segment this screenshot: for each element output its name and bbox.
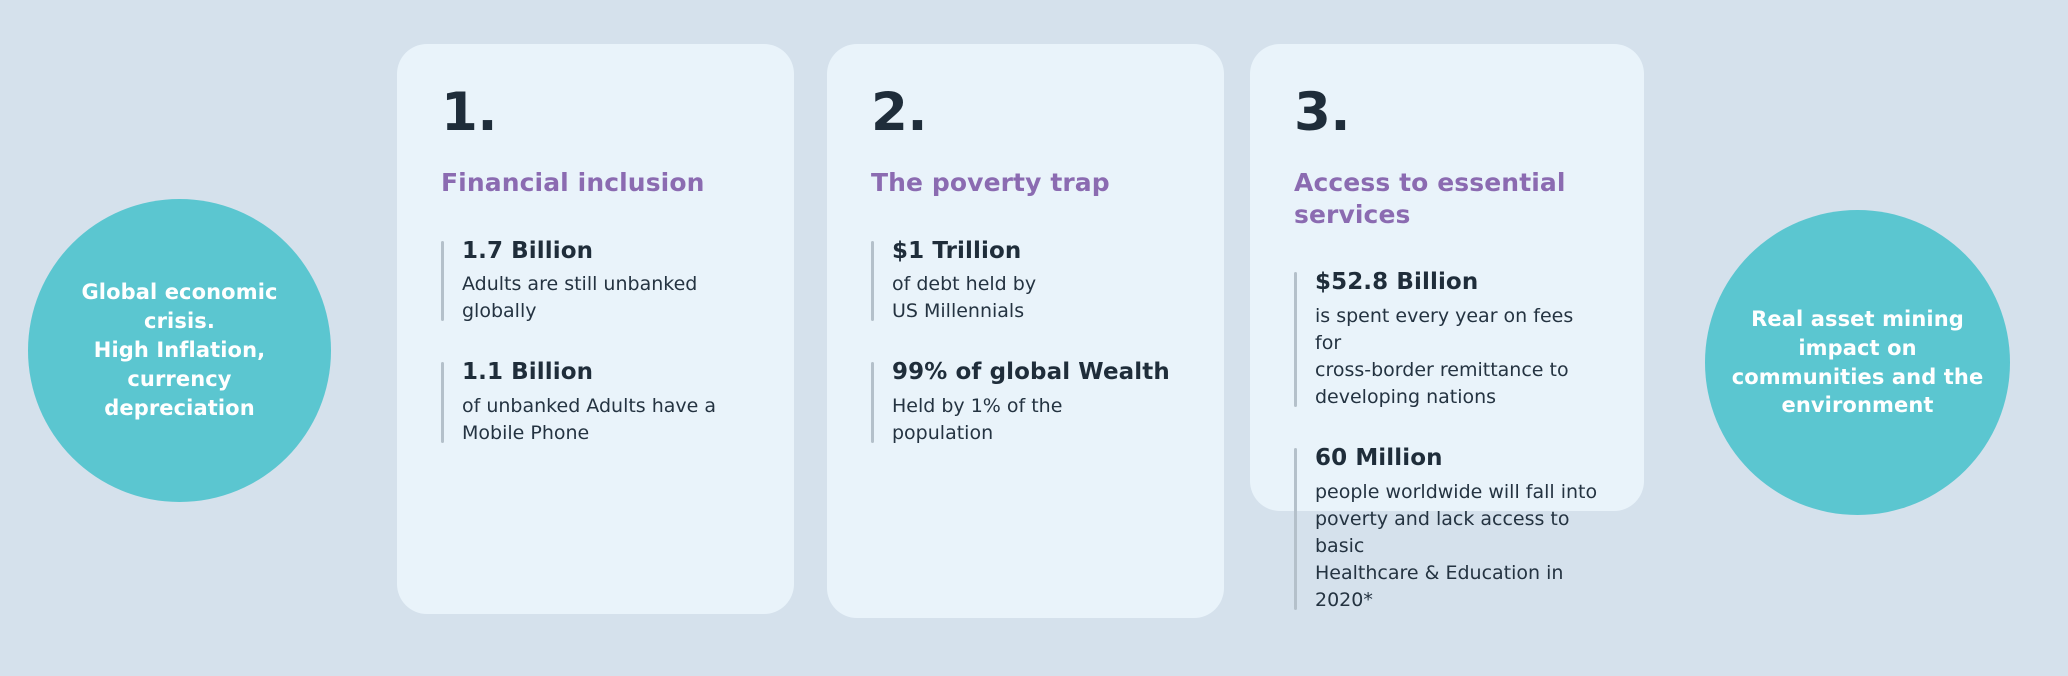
stat-block: $1 Trillion of debt held by US Millennia… — [871, 237, 1180, 326]
right-context-circle: Real asset mining impact on communities … — [1705, 210, 2010, 515]
stat-value: 60 Million — [1315, 444, 1600, 474]
stat-block: 1.1 Billion of unbanked Adults have a Mo… — [441, 358, 750, 447]
stat-description: of debt held by US Millennials — [892, 271, 1180, 325]
stat-accent-bar — [441, 241, 444, 322]
stat-value: 1.7 Billion — [462, 237, 750, 267]
stat-description: is spent every year on fees for cross-bo… — [1315, 303, 1600, 411]
stat-accent-bar — [1294, 272, 1297, 407]
stat-accent-bar — [1294, 448, 1297, 610]
card-number: 1. — [441, 86, 750, 139]
stat-block: 1.7 Billion Adults are still unbanked gl… — [441, 237, 750, 326]
left-context-circle: Global economic crisis. High Inflation, … — [28, 199, 331, 502]
card-heading: The poverty trap — [871, 167, 1180, 199]
infographic-canvas: Global economic crisis. High Inflation, … — [0, 0, 2068, 676]
stat-description: people worldwide will fall into poverty … — [1315, 479, 1600, 614]
stat-value: $1 Trillion — [892, 237, 1180, 267]
stat-block: 60 Million people worldwide will fall in… — [1294, 444, 1600, 614]
stat-accent-bar — [871, 362, 874, 443]
stat-description: Adults are still unbanked globally — [462, 271, 750, 325]
stat-description: of unbanked Adults have a Mobile Phone — [462, 393, 750, 447]
card-access-essential-services: 3. Access to essential services $52.8 Bi… — [1250, 44, 1644, 511]
stat-value: 1.1 Billion — [462, 358, 750, 388]
left-circle-text: Global economic crisis. High Inflation, … — [67, 278, 291, 423]
card-number: 3. — [1294, 86, 1600, 139]
card-financial-inclusion: 1. Financial inclusion 1.7 Billion Adult… — [397, 44, 794, 614]
right-circle-text: Real asset mining impact on communities … — [1718, 305, 1998, 421]
card-poverty-trap: 2. The poverty trap $1 Trillion of debt … — [827, 44, 1224, 618]
card-heading: Financial inclusion — [441, 167, 750, 199]
stat-accent-bar — [871, 241, 874, 322]
stat-value: $52.8 Billion — [1315, 268, 1600, 298]
card-heading: Access to essential services — [1294, 167, 1600, 230]
stat-block: 99% of global Wealth Held by 1% of the p… — [871, 358, 1180, 447]
card-number: 2. — [871, 86, 1180, 139]
stat-block: $52.8 Billion is spent every year on fee… — [1294, 268, 1600, 411]
stat-value: 99% of global Wealth — [892, 358, 1180, 388]
stat-accent-bar — [441, 362, 444, 443]
stat-description: Held by 1% of the population — [892, 393, 1180, 447]
